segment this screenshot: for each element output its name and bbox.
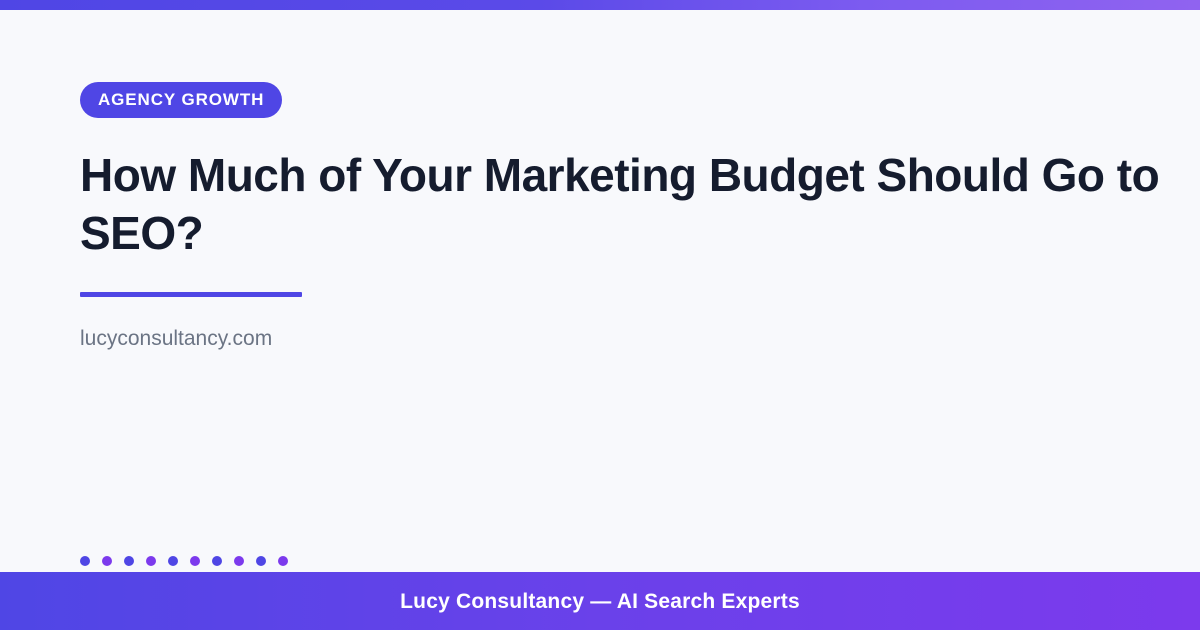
dot xyxy=(278,556,288,566)
dot xyxy=(124,556,134,566)
category-badge: AGENCY GROWTH xyxy=(80,82,282,118)
card-content: AGENCY GROWTH How Much of Your Marketing… xyxy=(80,82,1200,352)
decorative-dot-row xyxy=(80,556,288,566)
dot xyxy=(146,556,156,566)
dot xyxy=(256,556,266,566)
footer-bar: Lucy Consultancy — AI Search Experts xyxy=(0,572,1200,630)
footer-brand-text: Lucy Consultancy — AI Search Experts xyxy=(400,591,800,612)
dot xyxy=(168,556,178,566)
dot xyxy=(190,556,200,566)
dot xyxy=(212,556,222,566)
dot xyxy=(234,556,244,566)
dot xyxy=(102,556,112,566)
top-accent-strip xyxy=(0,0,1200,10)
page-title: How Much of Your Marketing Budget Should… xyxy=(80,146,1200,262)
title-underline-accent xyxy=(80,292,302,297)
dot xyxy=(80,556,90,566)
site-url: lucyconsultancy.com xyxy=(80,326,1200,352)
og-share-card: AGENCY GROWTH How Much of Your Marketing… xyxy=(0,0,1200,630)
